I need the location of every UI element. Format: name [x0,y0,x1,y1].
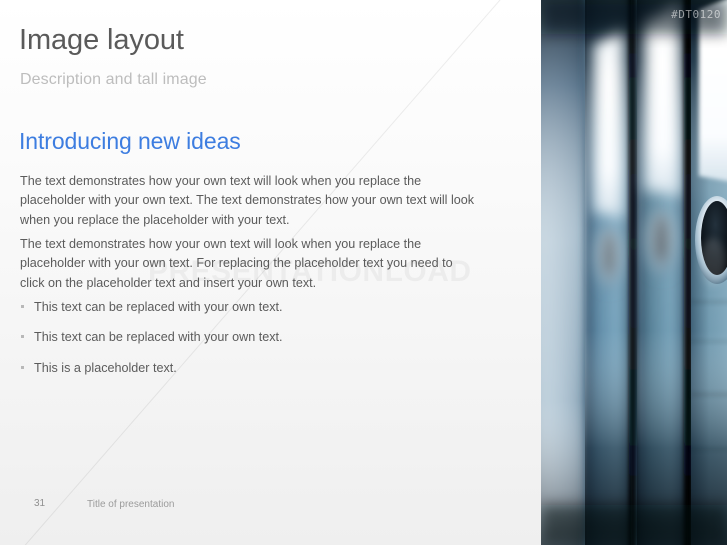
bullet-list: This text can be replaced with your own … [20,299,480,390]
list-item-label: This text can be replaced with your own … [34,330,283,344]
bullet-dot-icon [21,366,24,369]
body-paragraph-1: The text demonstrates how your own text … [20,172,478,230]
page-subtitle: Description and tall image [20,71,207,89]
section-heading: Introducing new ideas [19,128,241,155]
list-item-label: This text can be replaced with your own … [34,300,283,314]
list-item: This text can be replaced with your own … [20,329,480,345]
page-title: Image layout [19,25,184,57]
content-panel: Image layout Description and tall image … [0,0,541,545]
bullet-dot-icon [21,335,24,338]
footer-page-number: 31 [34,498,45,509]
slide-canvas: Image layout Description and tall image … [0,0,727,545]
footer-presentation-title: Title of presentation [87,499,174,510]
list-item-label: This is a placeholder text. [34,361,177,375]
ring-binders-illustration [541,0,727,545]
body-paragraph-2: The text demonstrates how your own text … [20,235,478,293]
list-item: This is a placeholder text. [20,360,480,376]
tall-image-ring-binders: #DT0120 [541,0,727,545]
list-item: This text can be replaced with your own … [20,299,480,315]
bullet-dot-icon [21,305,24,308]
